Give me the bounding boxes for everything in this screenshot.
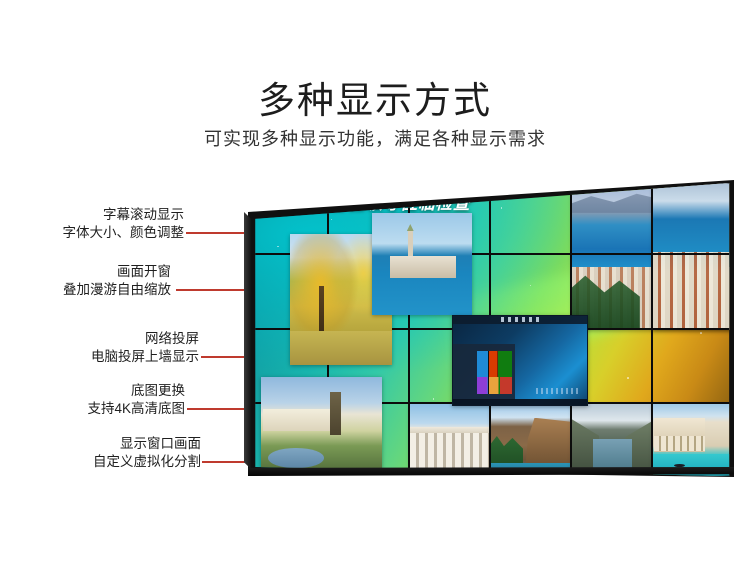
callout-line-1: 底图更换 (87, 382, 185, 400)
callout-line-1: 显示窗口画面 (93, 435, 201, 453)
callout-base-image-change: 底图更换 支持4K高清底图 (87, 382, 185, 417)
callout-line-1: 字幕滚动显示 (63, 206, 185, 224)
video-wall-screen[interactable]: 热烈欢迎各位领导莅临检查 (248, 180, 734, 479)
callout-line-2: 字体大小、颜色调整 (63, 224, 185, 242)
callout-line-1: 网络投屏 (91, 330, 199, 348)
lcd-video-wall[interactable]: 热烈欢迎各位领导莅临检查 (243, 172, 739, 484)
wall-outer-bezel (248, 180, 734, 479)
page-title: 多种显示方式 (0, 81, 750, 122)
callout-line-2: 电脑投屏上墙显示 (91, 348, 199, 366)
callout-line-2: 支持4K高清底图 (87, 400, 185, 418)
callout-network-cast: 网络投屏 电脑投屏上墙显示 (91, 330, 199, 365)
callout-line-2: 叠加漫游自由缩放 (63, 281, 171, 299)
callout-virtual-split: 显示窗口画面 自定义虚拟化分割 (93, 435, 201, 470)
callout-window-overlay: 画面开窗 叠加漫游自由缩放 (63, 263, 171, 298)
page-subtitle: 可实现多种显示功能，满足各种显示需求 (0, 125, 750, 151)
callout-subtitle-scroll: 字幕滚动显示 字体大小、颜色调整 (63, 206, 185, 241)
wall-left-side-edge (244, 212, 252, 470)
page-root: 多种显示方式 可实现多种显示功能，满足各种显示需求 字幕滚动显示 字体大小、颜色… (0, 0, 750, 571)
callout-line-1: 画面开窗 (63, 263, 171, 281)
callout-line-2: 自定义虚拟化分割 (93, 453, 201, 471)
